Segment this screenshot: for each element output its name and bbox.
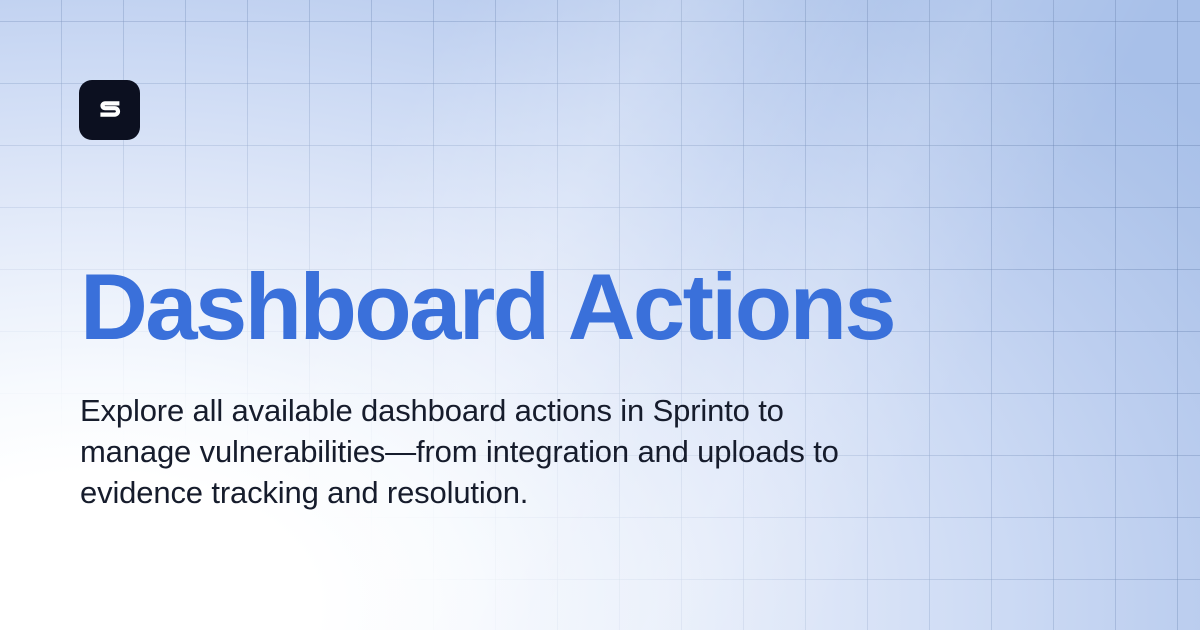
card-content: Dashboard Actions Explore all available …	[0, 0, 1200, 630]
sprinto-s-logo-icon	[93, 93, 127, 127]
og-card: Dashboard Actions Explore all available …	[0, 0, 1200, 630]
page-title: Dashboard Actions	[80, 260, 894, 354]
sprinto-logo	[79, 80, 140, 140]
page-subtitle: Explore all available dashboard actions …	[80, 390, 870, 513]
